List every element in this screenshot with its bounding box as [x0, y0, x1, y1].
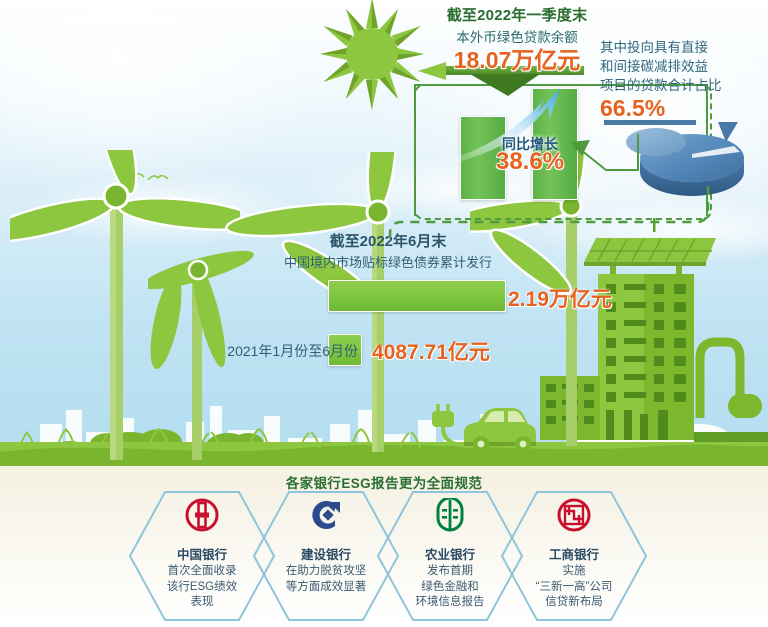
bank-name: 工商银行: [500, 544, 648, 563]
bonds-bar-total: [328, 280, 506, 312]
chevron-connector-icon: [568, 130, 642, 190]
carbon-value: 66.5%: [600, 95, 720, 122]
bank-desc-line: “三新一高”公司: [500, 580, 648, 596]
loans-value: 18.07万亿元: [424, 41, 610, 75]
bank-card-icbc[interactable]: 工商银行 实施 “三新一高”公司 信贷新布局: [500, 490, 648, 622]
bonds-bar-h1-value: 4087.71亿元: [372, 336, 490, 366]
ccb-logo-icon: [309, 498, 343, 532]
bank-desc-line: 信贷新布局: [500, 595, 648, 611]
bonds-subtitle: 中国境内市场贴标绿色债券累计发行: [256, 252, 520, 271]
bonds-bar-h1-label: 2021年1月份至6月份: [188, 341, 358, 361]
banks-panel-title: 各家银行ESG报告更为全面规范: [0, 472, 768, 492]
carbon-description-line-3: 项目的贷款合计占比: [600, 76, 760, 95]
loans-title: 截至2022年一季度末: [432, 4, 602, 25]
icbc-logo-icon: [557, 498, 591, 532]
dashed-connector: [386, 186, 716, 248]
boc-logo-icon: [185, 498, 219, 532]
bank-description: 实施 “三新一高”公司 信贷新布局: [500, 564, 648, 611]
carbon-description-line-1: 其中投向具有直接: [600, 38, 760, 57]
bank-desc-line: 实施: [500, 564, 648, 580]
carbon-description-line-2: 和间接碳减排效益: [600, 57, 760, 76]
carbon-description: 其中投向具有直接 和间接碳减排效益 项目的贷款合计占比: [600, 38, 760, 95]
infographic-canvas: 同比增长 38.6%: [0, 0, 768, 627]
bank-hexagon-row: 中国银行 首次全面收录 该行ESG绩效 表现 建设银行 在助力脱贫攻坚 等方面成…: [128, 490, 648, 625]
bonds-bar-total-value: 2.19万亿元: [508, 283, 612, 313]
abc-logo-icon: [433, 498, 467, 532]
